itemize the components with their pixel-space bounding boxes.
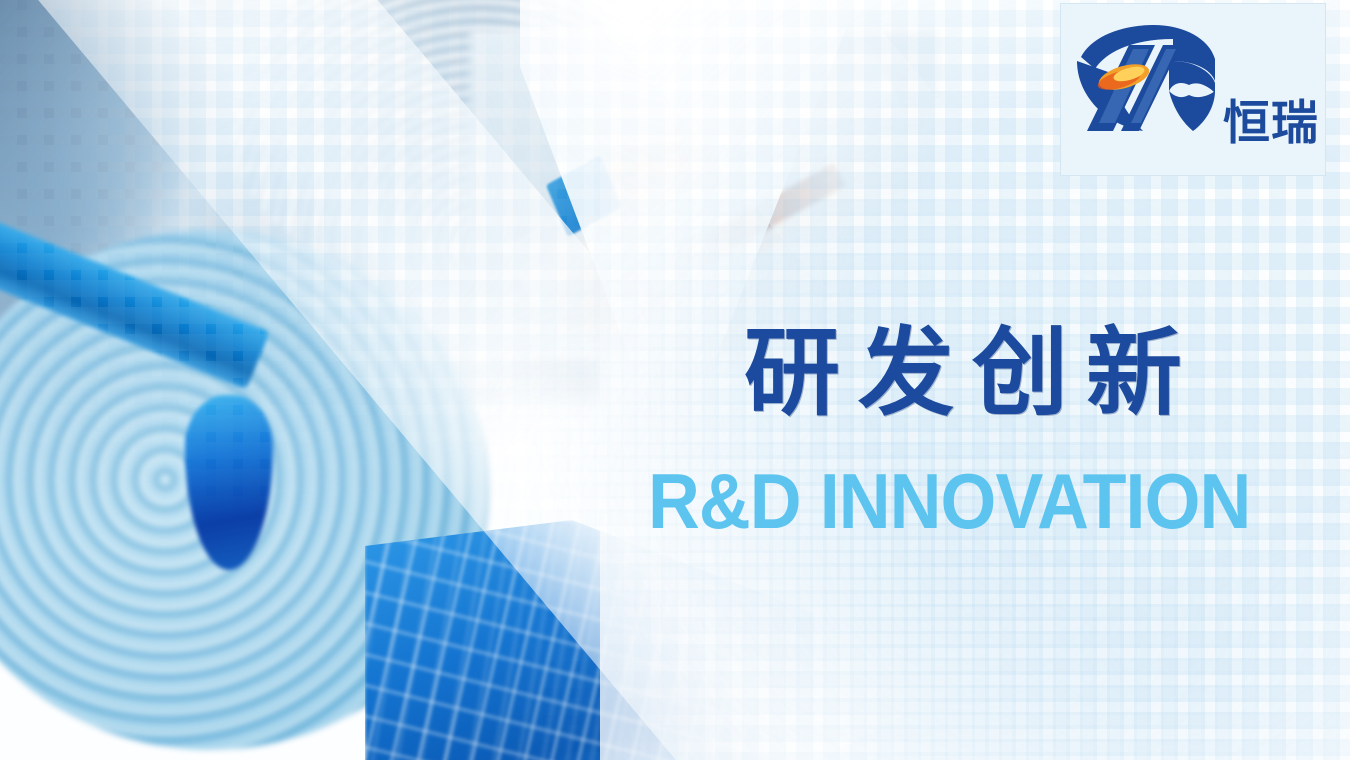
- page-title-chinese: 研发创新: [744, 325, 1200, 421]
- logo-inner: 恒瑞: [1069, 15, 1317, 165]
- hengrui-swoosh-mark: [1069, 21, 1219, 147]
- page-title-english: R&D INNOVATION: [648, 462, 1250, 540]
- rd-innovation-banner: 研发创新 R&D INNOVATION 恒瑞: [0, 0, 1350, 760]
- logo-brand-text: 恒瑞: [1223, 100, 1319, 147]
- logo-plate[interactable]: 恒瑞: [1060, 3, 1326, 176]
